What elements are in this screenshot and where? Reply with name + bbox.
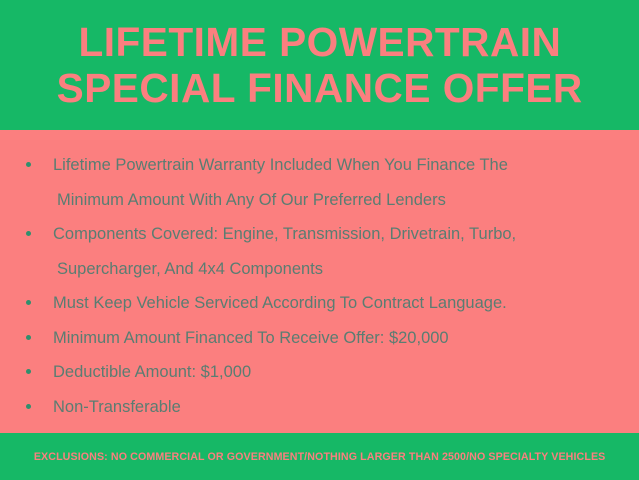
list-item-text: Components Covered: Engine, Transmission… (53, 225, 516, 243)
offer-details-list: Lifetime Powertrain Warranty Included Wh… (16, 148, 623, 424)
list-item: Lifetime Powertrain Warranty Included Wh… (16, 148, 623, 217)
promotional-poster: LIFETIME POWERTRAIN SPECIAL FINANCE OFFE… (0, 0, 639, 480)
poster-title-line-2: SPECIAL FINANCE OFFER (56, 65, 582, 111)
poster-footer: EXCLUSIONS: NO COMMERCIAL OR GOVERNMENT/… (0, 433, 639, 480)
list-item-text-continued: Supercharger, And 4x4 Components (53, 252, 623, 287)
bullet-dot-icon (26, 335, 31, 340)
poster-title-line-1: LIFETIME POWERTRAIN (78, 19, 561, 65)
poster-header: LIFETIME POWERTRAIN SPECIAL FINANCE OFFE… (0, 0, 639, 130)
list-item: Components Covered: Engine, Transmission… (16, 217, 623, 286)
list-item: Deductible Amount: $1,000 (16, 355, 623, 390)
list-item-text: Minimum Amount Financed To Receive Offer… (53, 329, 449, 347)
list-item: Minimum Amount Financed To Receive Offer… (16, 321, 623, 356)
list-item-text: Non-Transferable (53, 398, 181, 416)
list-item-text: Deductible Amount: $1,000 (53, 363, 251, 381)
bullet-dot-icon (26, 231, 31, 236)
list-item: Non-Transferable (16, 390, 623, 425)
list-item-text-continued: Minimum Amount With Any Of Our Preferred… (53, 183, 623, 218)
bullet-dot-icon (26, 369, 31, 374)
exclusions-text: EXCLUSIONS: NO COMMERCIAL OR GOVERNMENT/… (34, 451, 606, 463)
bullet-dot-icon (26, 300, 31, 305)
list-item-text: Lifetime Powertrain Warranty Included Wh… (53, 156, 508, 174)
list-item: Must Keep Vehicle Serviced According To … (16, 286, 623, 321)
poster-body: Lifetime Powertrain Warranty Included Wh… (0, 130, 639, 433)
bullet-dot-icon (26, 404, 31, 409)
list-item-text: Must Keep Vehicle Serviced According To … (53, 294, 507, 312)
bullet-dot-icon (26, 162, 31, 167)
